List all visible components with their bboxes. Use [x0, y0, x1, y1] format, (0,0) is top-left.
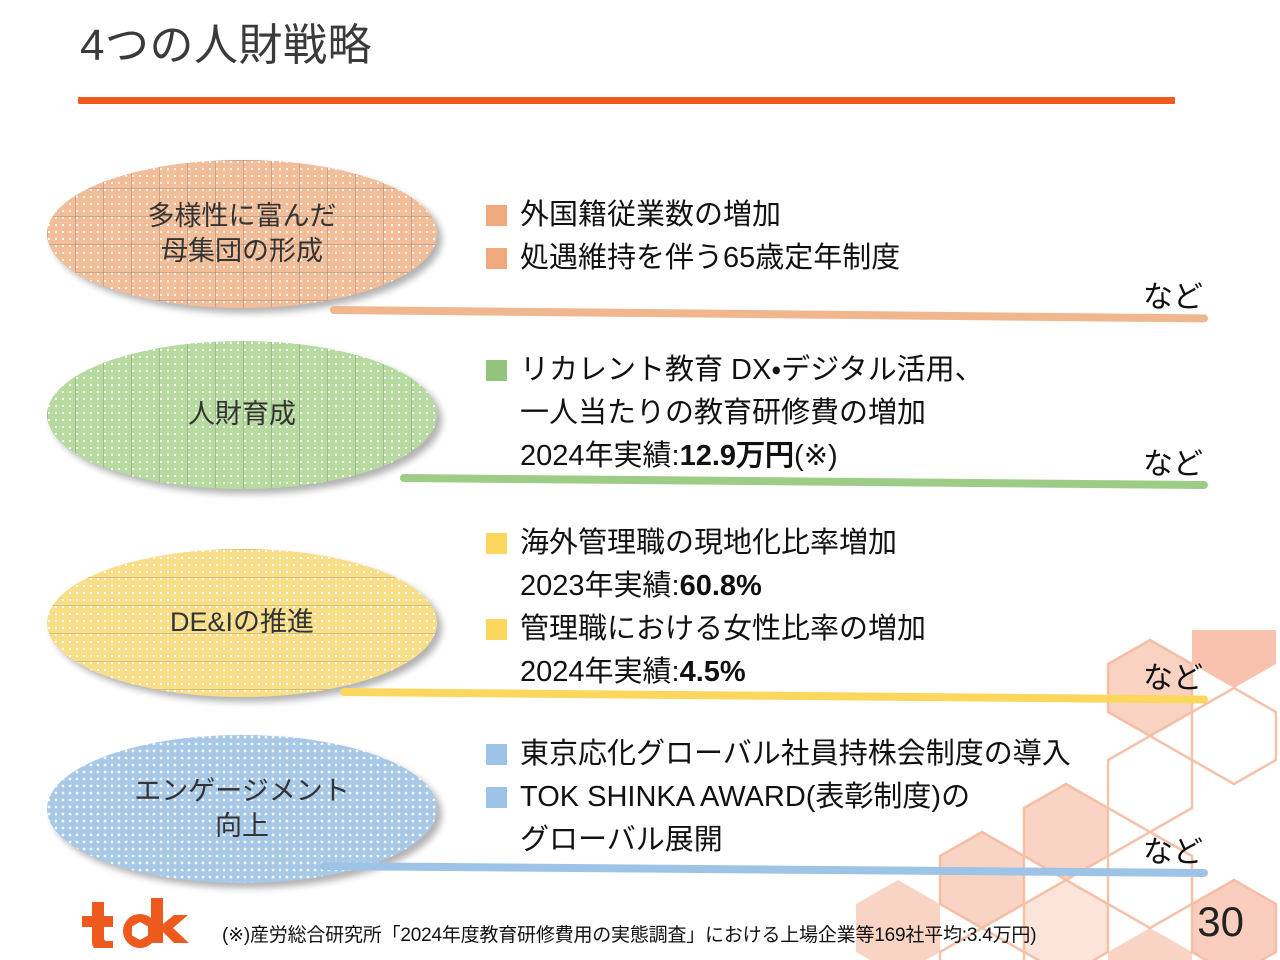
bullet-metric-value: 12.9万円 [680, 435, 794, 478]
strategy-connector-line [320, 862, 1208, 877]
etc-label: など [1143, 653, 1203, 697]
bullet-text: 東京応化グローバル社員持株会制度の導入 [520, 733, 1071, 776]
bullet-square-icon [486, 533, 507, 554]
bullet-square-icon [486, 744, 507, 765]
etc-label: など [1143, 439, 1203, 483]
bullet-square-icon [486, 205, 507, 226]
slide-canvas: 4つの人財戦略 多様性に富んだ 母集団の形成 外国籍従業数の増加 処遇維持を伴う… [0, 0, 1280, 960]
bullet-metric-value: 60.8% [680, 565, 762, 608]
strategy-ellipse-label: 多様性に富んだ 母集団の形成 [148, 199, 337, 269]
strategy-ellipse-development[interactable]: 人財育成 [47, 341, 437, 489]
bullet-metric-value: 4.5% [680, 651, 746, 694]
list-item: 東京応化グローバル社員持株会制度の導入 [486, 733, 1071, 776]
bullet-text: 管理職における女性比率の増加 [520, 608, 926, 651]
page-title: 4つの人財戦略 [80, 22, 372, 70]
bullet-text: 外国籍従業数の増加 [520, 194, 781, 237]
bullet-text: 2024年実績: [520, 651, 680, 694]
strategy-ellipse-diversity[interactable]: 多様性に富んだ 母集団の形成 [47, 160, 437, 308]
strategy-ellipse-label: DE&Iの推進 [170, 605, 314, 640]
bullet-text: TOK SHINKA AWARD(表彰制度)の [520, 776, 970, 819]
list-item: TOK SHINKA AWARD(表彰制度)の [486, 776, 1071, 819]
bullet-square-icon [486, 360, 507, 381]
list-item: 処遇維持を伴う65歳定年制度 [486, 237, 900, 280]
bullet-text: リカレント教育 DX・デジタル活用、 [520, 349, 984, 392]
bullet-text: 一人当たりの教育研修費の増加 [520, 392, 926, 435]
bullet-square-icon [486, 619, 507, 640]
bullet-text-tail: (※) [794, 435, 838, 478]
list-item: 2024年実績: 4.5% [486, 651, 926, 694]
strategy-bullet-list: リカレント教育 DX・デジタル活用、 一人当たりの教育研修費の増加 2024年実… [486, 349, 984, 478]
bullet-text: グローバル展開 [520, 819, 723, 862]
list-item: 外国籍従業数の増加 [486, 194, 900, 237]
title-underline-rule [78, 97, 1175, 104]
strategy-bullet-list: 東京応化グローバル社員持株会制度の導入 TOK SHINKA AWARD(表彰制… [486, 733, 1071, 862]
strategy-bullet-list: 外国籍従業数の増加 処遇維持を伴う65歳定年制度 [486, 194, 900, 280]
bullet-text: 処遇維持を伴う65歳定年制度 [520, 237, 900, 280]
strategy-connector-line [330, 306, 1208, 322]
strategy-ellipse-label: エンゲージメント 向上 [134, 774, 349, 844]
bullet-text: 2023年実績: [520, 565, 680, 608]
bullet-square-icon [486, 787, 507, 808]
strategy-ellipse-label: 人財育成 [188, 397, 296, 432]
bullet-text: 海外管理職の現地化比率増加 [520, 522, 897, 565]
list-item: 海外管理職の現地化比率増加 [486, 522, 926, 565]
etc-label: など [1143, 272, 1203, 316]
list-item: 一人当たりの教育研修費の増加 [486, 392, 984, 435]
list-item: 2024年実績: 12.9万円 (※) [486, 435, 984, 478]
tok-logo [78, 896, 196, 948]
bullet-square-icon [486, 248, 507, 269]
strategy-ellipse-engagement[interactable]: エンゲージメント 向上 [47, 735, 437, 883]
strategy-ellipse-dei[interactable]: DE&Iの推進 [47, 549, 437, 697]
strategy-bullet-list: 海外管理職の現地化比率増加 2023年実績: 60.8% 管理職における女性比率… [486, 522, 926, 694]
footnote-text: (※)産労総合研究所「2024年度教育研修費用の実態調査」における上場企業等16… [222, 920, 1036, 947]
list-item: 管理職における女性比率の増加 [486, 608, 926, 651]
page-number: 30 [1197, 898, 1244, 946]
bullet-text: 2024年実績: [520, 435, 680, 478]
list-item: グローバル展開 [486, 819, 1071, 862]
list-item: 2023年実績: 60.8% [486, 565, 926, 608]
list-item: リカレント教育 DX・デジタル活用、 [486, 349, 984, 392]
etc-label: など [1143, 827, 1203, 871]
